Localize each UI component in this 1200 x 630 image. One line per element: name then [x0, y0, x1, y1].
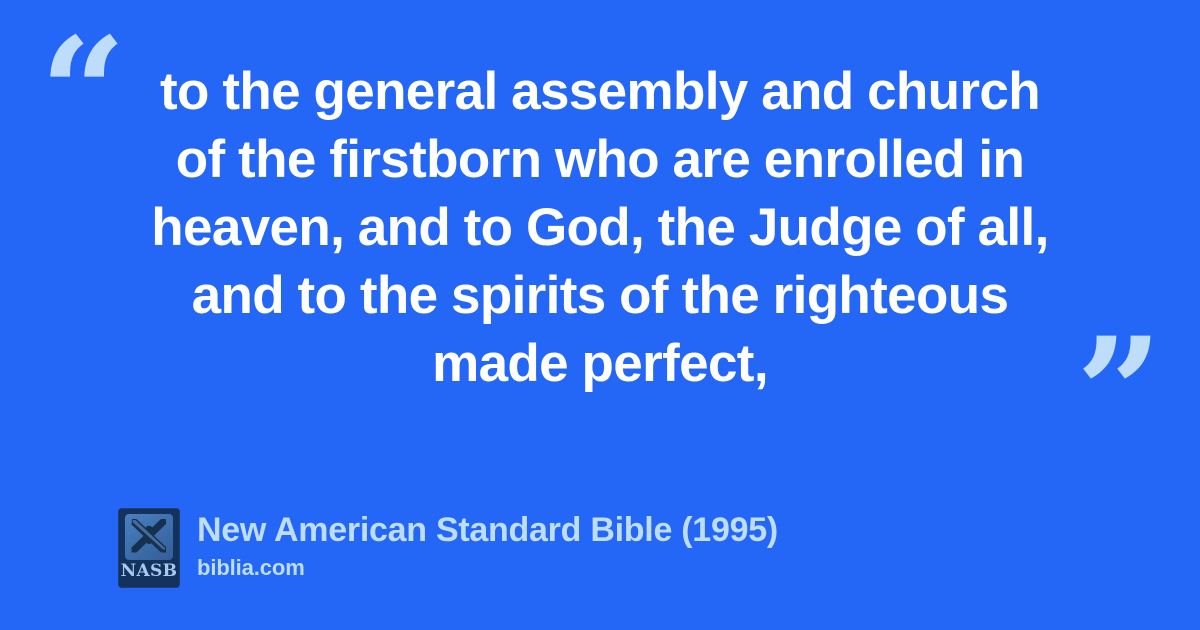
nasb-logo: NASB	[118, 508, 180, 588]
nasb-logo-label: NASB	[118, 563, 180, 580]
quote-line: of the firstborn who are enrolled in	[105, 126, 1095, 194]
quote-line: made perfect,	[105, 330, 1095, 398]
attribution-text-group: New American Standard Bible (1995) bibli…	[197, 508, 778, 582]
quote-block: to the general assembly and church of th…	[105, 58, 1095, 398]
closing-quote-icon: ”	[1076, 318, 1159, 468]
site-url: biblia.com	[197, 554, 778, 582]
quote-line: heaven, and to God, the Judge of all,	[105, 194, 1095, 262]
quote-line: and to the spirits of the righteous	[105, 262, 1095, 330]
attribution-footer: NASB New American Standard Bible (1995) …	[118, 508, 778, 588]
quote-line: to the general assembly and church	[105, 58, 1095, 126]
translation-title: New American Standard Bible (1995)	[197, 509, 778, 551]
quote-text: to the general assembly and church of th…	[105, 58, 1095, 398]
nasb-sword-cross-icon	[125, 514, 173, 560]
verse-image-card: “ to the general assembly and church of …	[0, 0, 1200, 630]
